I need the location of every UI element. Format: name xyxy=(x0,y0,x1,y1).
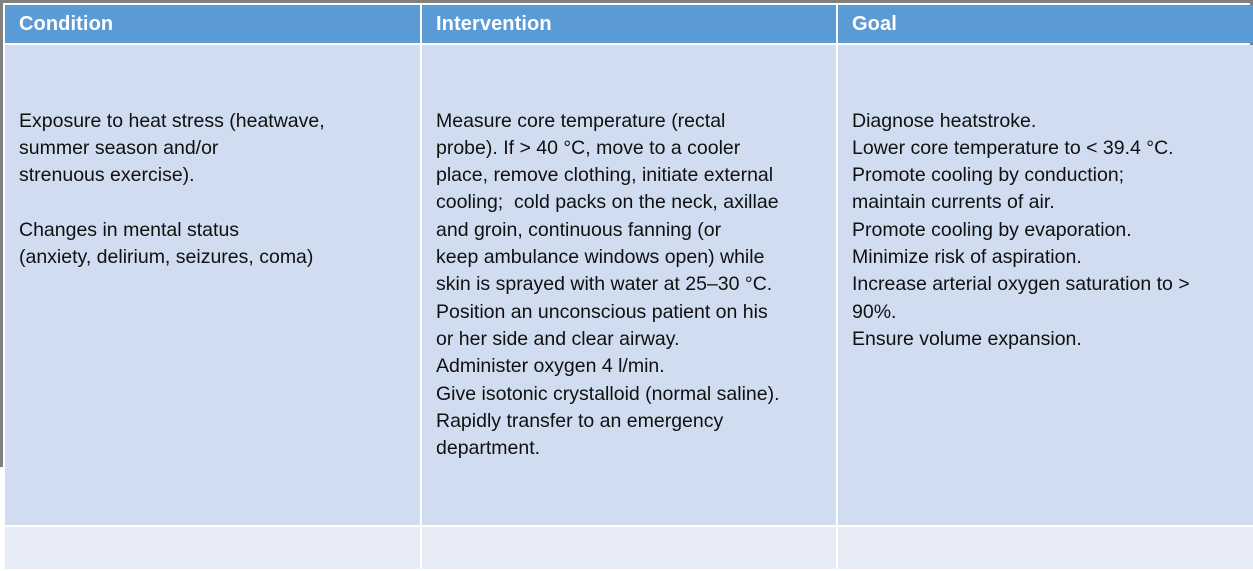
heatstroke-table: Condition Intervention Goal Exposure to … xyxy=(3,3,1253,571)
cell-intervention-text: Measure core temperature (rectal probe).… xyxy=(436,108,826,463)
table-row: Exposure to heat stress (heatwave, summe… xyxy=(5,45,1253,525)
cell-goal-empty[interactable] xyxy=(838,527,1253,569)
cell-goal-text: Diagnose heatstroke. Lower core temperat… xyxy=(852,108,1246,354)
table-row-empty xyxy=(5,527,1253,569)
column-header-goal[interactable]: Goal xyxy=(838,5,1253,43)
table-body: Exposure to heat stress (heatwave, summe… xyxy=(5,45,1253,569)
cell-intervention-empty[interactable] xyxy=(422,527,836,569)
cell-condition-text: Exposure to heat stress (heatwave, summe… xyxy=(19,108,410,272)
cell-goal[interactable]: Diagnose heatstroke. Lower core temperat… xyxy=(838,45,1253,525)
cell-intervention[interactable]: Measure core temperature (rectal probe).… xyxy=(422,45,836,525)
cell-condition-empty[interactable] xyxy=(5,527,420,569)
column-header-condition[interactable]: Condition xyxy=(5,5,420,43)
table-header: Condition Intervention Goal xyxy=(5,5,1253,43)
column-header-intervention[interactable]: Intervention xyxy=(422,5,836,43)
heatstroke-table-container: Condition Intervention Goal Exposure to … xyxy=(0,0,1253,467)
header-row: Condition Intervention Goal xyxy=(5,5,1253,43)
cell-condition[interactable]: Exposure to heat stress (heatwave, summe… xyxy=(5,45,420,525)
